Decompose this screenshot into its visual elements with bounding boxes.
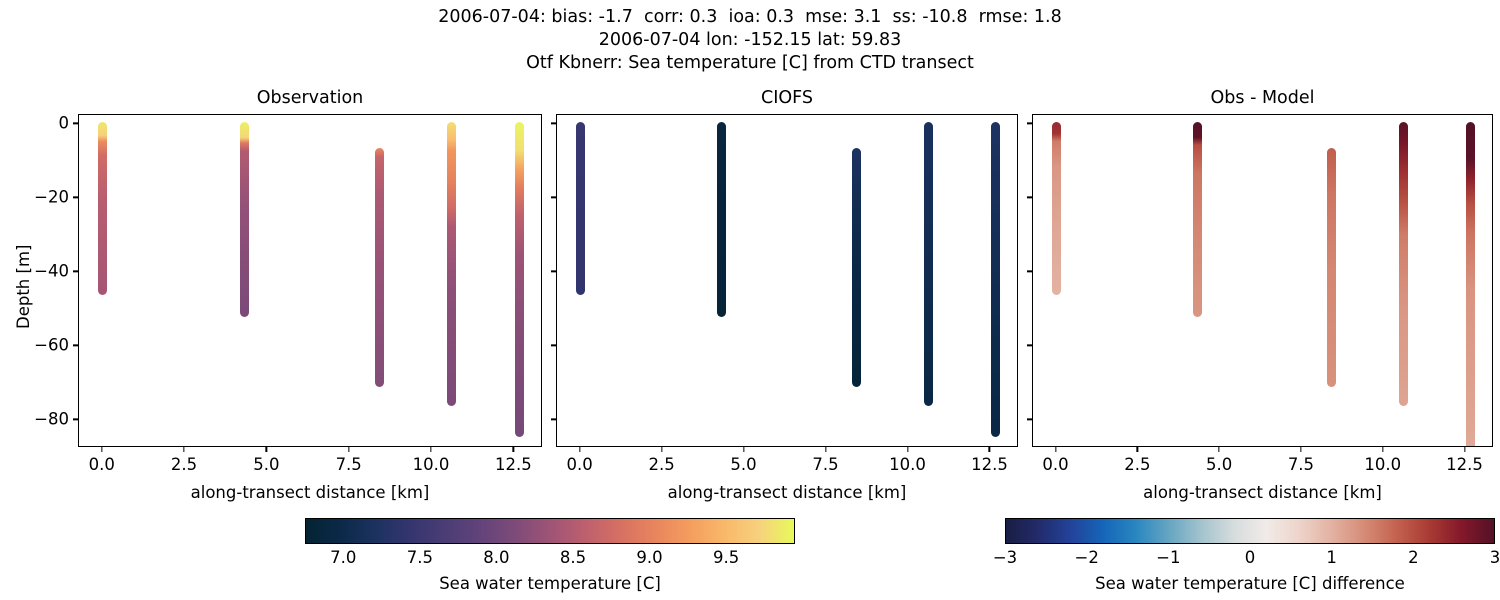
x-tick-mark <box>579 447 580 452</box>
x-tick-mark <box>266 447 267 452</box>
x-tick-mark <box>348 447 349 452</box>
colorbar-tick-label: 8.5 <box>560 548 586 567</box>
x-tick-mark <box>661 447 662 452</box>
colorbar-title: Sea water temperature [C] <box>225 574 875 593</box>
x-tick-mark <box>989 447 990 452</box>
cast-profile <box>98 122 107 295</box>
x-tick-label: 10.0 <box>413 455 450 474</box>
cast-profile <box>240 122 249 317</box>
x-tick-mark <box>101 447 102 452</box>
x-tick-mark <box>907 447 908 452</box>
x-tick-mark <box>1382 447 1383 452</box>
x-tick-mark <box>825 447 826 452</box>
x-tick-label: 5.0 <box>253 455 279 474</box>
x-tick-mark <box>183 447 184 452</box>
x-axis-label: along-transect distance [km] <box>1032 483 1493 502</box>
x-tick-label: 0.0 <box>89 455 115 474</box>
y-tick-mark <box>73 271 78 272</box>
colorbar-tick-label: 3 <box>1490 548 1500 567</box>
panel-title-observation: Observation <box>78 88 542 108</box>
y-tick-label: −40 <box>34 262 69 281</box>
difference-colorbar <box>1005 518 1495 544</box>
x-tick-label: 12.5 <box>1446 455 1483 474</box>
y-axis-label: Depth [m] <box>14 244 33 328</box>
x-axis-label: along-transect distance [km] <box>556 483 1018 502</box>
x-tick-label: 0.0 <box>1042 455 1068 474</box>
colorbar-tick-label: 0 <box>1245 548 1256 567</box>
x-tick-label: 0.0 <box>566 455 592 474</box>
y-tick-mark <box>1027 197 1032 198</box>
y-tick-mark <box>73 419 78 420</box>
colorbar-tick-label: 1 <box>1326 548 1337 567</box>
x-tick-label: 7.5 <box>812 455 838 474</box>
cast-profile <box>1466 122 1475 447</box>
figure-title-dataset: Otf Kbnerr: Sea temperature [C] from CTD… <box>0 52 1500 74</box>
colorbar-tick-label: 8.0 <box>483 548 509 567</box>
cast-profile <box>375 148 384 387</box>
cast-profile <box>924 122 933 406</box>
x-tick-mark <box>743 447 744 452</box>
figure-root: 2006-07-04: bias: -1.7 corr: 0.3 ioa: 0.… <box>0 0 1500 600</box>
plot-panel-ciofs <box>556 114 1018 447</box>
colorbar-tick-label: −2 <box>1074 548 1098 567</box>
y-tick-mark <box>73 345 78 346</box>
colorbar-title: Sea water temperature [C] difference <box>925 574 1500 593</box>
cast-profile <box>447 122 456 406</box>
x-tick-mark <box>1055 447 1056 452</box>
cast-profile <box>1052 122 1061 295</box>
y-tick-mark <box>551 419 556 420</box>
colorbar-tick-label: −1 <box>1156 548 1180 567</box>
y-tick-mark <box>551 345 556 346</box>
cast-profile <box>515 122 524 437</box>
cast-profile <box>717 122 726 317</box>
x-tick-label: 10.0 <box>889 455 926 474</box>
cast-profile <box>991 122 1000 437</box>
x-tick-label: 2.5 <box>171 455 197 474</box>
plot-panel-obs_minus_model <box>1032 114 1493 447</box>
y-tick-label: −60 <box>34 336 69 355</box>
figure-title-location: 2006-07-04 lon: -152.15 lat: 59.83 <box>0 29 1500 51</box>
cast-profile <box>1327 148 1336 387</box>
x-tick-label: 2.5 <box>1124 455 1150 474</box>
colorbar-tick-label: −3 <box>993 548 1017 567</box>
x-tick-label: 5.0 <box>730 455 756 474</box>
panel-title-ciofs: CIOFS <box>556 88 1018 108</box>
y-tick-mark <box>551 123 556 124</box>
x-axis-label: along-transect distance [km] <box>78 483 542 502</box>
cast-profile <box>852 148 861 387</box>
panel-title-obs_minus_model: Obs - Model <box>1032 88 1493 108</box>
y-tick-mark <box>1027 271 1032 272</box>
colorbar-tick-label: 9.0 <box>636 548 662 567</box>
x-tick-label: 2.5 <box>648 455 674 474</box>
y-tick-mark <box>1027 345 1032 346</box>
cast-profile <box>576 122 585 295</box>
x-tick-mark <box>430 447 431 452</box>
colorbar-tick-label: 7.0 <box>330 548 356 567</box>
plot-panel-observation <box>78 114 542 447</box>
x-tick-mark <box>1218 447 1219 452</box>
x-tick-label: 10.0 <box>1364 455 1401 474</box>
x-tick-label: 12.5 <box>495 455 532 474</box>
y-tick-label: −20 <box>34 188 69 207</box>
x-tick-mark <box>1300 447 1301 452</box>
cast-profile <box>1399 122 1408 406</box>
y-tick-mark <box>1027 419 1032 420</box>
y-tick-mark <box>73 197 78 198</box>
x-tick-label: 5.0 <box>1206 455 1232 474</box>
colorbar-tick-label: 9.5 <box>713 548 739 567</box>
y-tick-mark <box>551 197 556 198</box>
y-tick-label: −80 <box>34 410 69 429</box>
x-tick-mark <box>1464 447 1465 452</box>
y-tick-mark <box>1027 123 1032 124</box>
x-tick-label: 7.5 <box>1288 455 1314 474</box>
cast-profile <box>1193 122 1202 317</box>
y-tick-mark <box>551 271 556 272</box>
y-tick-label: 0 <box>59 114 70 133</box>
x-tick-label: 12.5 <box>971 455 1008 474</box>
x-tick-mark <box>1137 447 1138 452</box>
x-tick-label: 7.5 <box>336 455 362 474</box>
figure-title-stats: 2006-07-04: bias: -1.7 corr: 0.3 ioa: 0.… <box>0 6 1500 28</box>
colorbar-tick-label: 7.5 <box>407 548 433 567</box>
y-tick-mark <box>73 123 78 124</box>
temperature-colorbar <box>305 518 795 544</box>
colorbar-tick-label: 2 <box>1408 548 1419 567</box>
x-tick-mark <box>513 447 514 452</box>
